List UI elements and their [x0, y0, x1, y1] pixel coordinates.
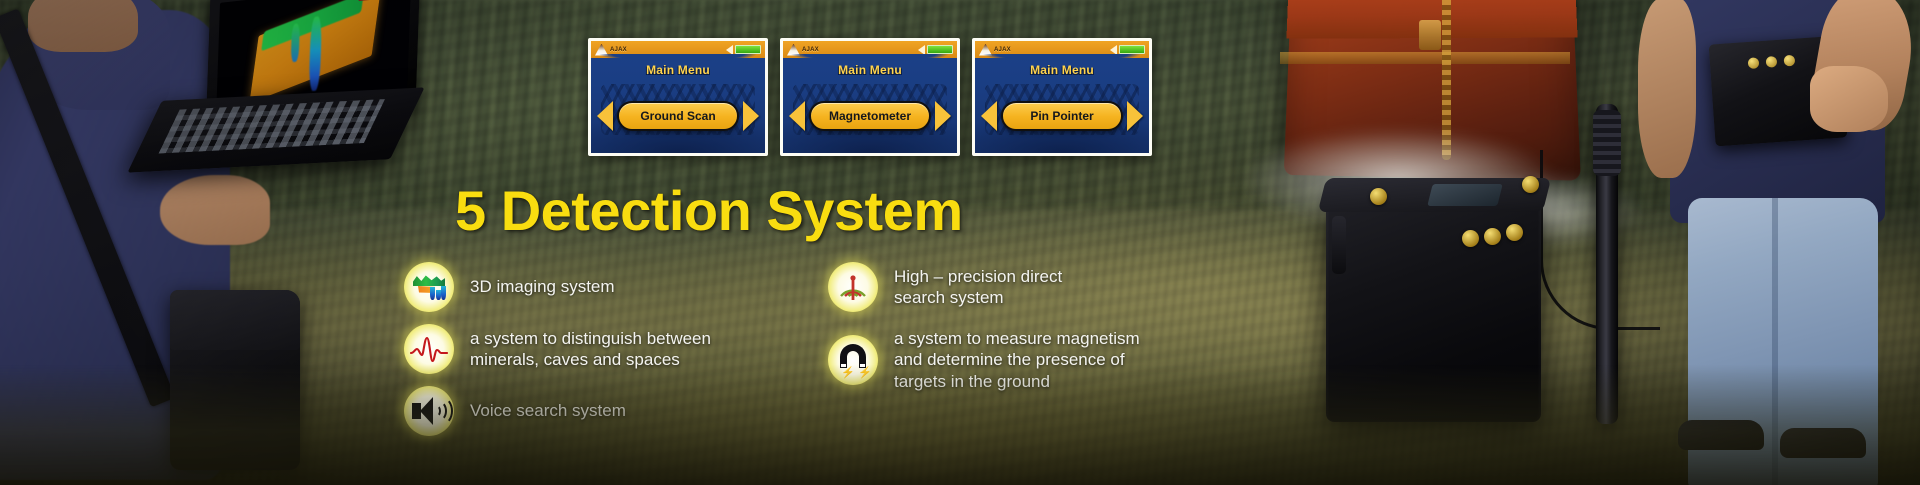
screen-mode-selector: Pin Pointer [975, 101, 1149, 131]
control-knob[interactable] [1766, 56, 1778, 68]
person-right-hand [1810, 66, 1888, 132]
screen-title: Main Menu [975, 63, 1149, 77]
waveform-glyph [410, 334, 448, 364]
device-screen-group: AJAX Main Menu Ground Scan AJAX [588, 38, 1152, 156]
feature-list-left: 3D imaging system a system to distinguis… [404, 262, 794, 448]
feature-label: High – precision direct search system [894, 266, 1062, 309]
mode-button[interactable]: Ground Scan [617, 101, 739, 131]
feature-label: 3D imaging system [470, 276, 615, 297]
person-right-arm-left [1638, 0, 1696, 178]
brand-logo: AJAX [787, 44, 819, 56]
screen-title: Main Menu [591, 63, 765, 77]
battery-indicator [1110, 45, 1145, 55]
radar-signal-icon [828, 262, 878, 312]
screen-status-bar: AJAX [783, 41, 957, 58]
device-screen-ground-scan[interactable]: AJAX Main Menu Ground Scan [588, 38, 768, 156]
person-right [1650, 0, 1920, 485]
screen-mode-selector: Ground Scan [591, 101, 765, 131]
prev-mode-arrow-icon[interactable] [981, 101, 997, 131]
detector-unit [1326, 192, 1541, 422]
logo-text: AJAX [994, 47, 1011, 53]
list-item: a system to distinguish between minerals… [404, 324, 794, 374]
next-mode-arrow-icon[interactable] [1127, 101, 1143, 131]
list-item: Voice search system [404, 386, 794, 436]
volume-icon [918, 45, 925, 55]
logo-text: AJAX [802, 47, 819, 53]
logo-text: AJAX [610, 47, 627, 53]
waveform-icon [404, 324, 454, 374]
battery-indicator [918, 45, 953, 55]
feature-label: a system to distinguish between minerals… [470, 328, 711, 371]
promo-banner: AJAX Main Menu Ground Scan AJAX [0, 0, 1920, 485]
volume-icon [1110, 45, 1117, 55]
search-rod [1596, 104, 1618, 424]
detector-knob[interactable] [1506, 224, 1523, 241]
battery-indicator [726, 45, 761, 55]
chest-lock [1419, 20, 1441, 50]
list-item: ⚡⚡ a system to measure magnetism and det… [828, 328, 1248, 392]
detector-knob[interactable] [1522, 176, 1539, 193]
logo-mark-icon [979, 44, 992, 56]
detector-handle [1332, 216, 1346, 274]
person-right-shoe [1780, 428, 1866, 458]
brand-logo: AJAX [979, 44, 1011, 56]
device-screen-magnetometer[interactable]: AJAX Main Menu Magnetometer [780, 38, 960, 156]
screen-status-bar: AJAX [975, 41, 1149, 58]
next-mode-arrow-icon[interactable] [935, 101, 951, 131]
speaker-icon [404, 386, 454, 436]
battery-icon [927, 45, 953, 54]
page-title: 5 Detection System [455, 178, 963, 243]
list-item: 3D imaging system [404, 262, 794, 312]
detector-knob[interactable] [1484, 228, 1501, 245]
magnet-icon: ⚡⚡ [828, 335, 878, 385]
3d-terrain-icon [404, 262, 454, 312]
detector-knob[interactable] [1370, 188, 1387, 205]
feature-list-right: High – precision direct search system ⚡⚡… [828, 262, 1248, 404]
prev-mode-arrow-icon[interactable] [597, 101, 613, 131]
logo-mark-icon [787, 44, 800, 56]
next-mode-arrow-icon[interactable] [743, 101, 759, 131]
detector-display [1427, 184, 1502, 206]
person-right-shoe [1678, 420, 1764, 450]
device-screen-pin-pointer[interactable]: AJAX Main Menu Pin Pointer [972, 38, 1152, 156]
screen-mode-selector: Magnetometer [783, 101, 957, 131]
screen-title: Main Menu [783, 63, 957, 77]
volume-icon [726, 45, 733, 55]
prev-mode-arrow-icon[interactable] [789, 101, 805, 131]
logo-mark-icon [595, 44, 608, 56]
battery-icon [735, 45, 761, 54]
feature-label: Voice search system [470, 400, 626, 421]
radar-glyph [835, 270, 871, 304]
control-knob[interactable] [1748, 57, 1760, 69]
feature-label: a system to measure magnetism and determ… [894, 328, 1140, 392]
list-item: High – precision direct search system [828, 262, 1248, 312]
chest-band [1280, 52, 1570, 64]
screen-status-bar: AJAX [591, 41, 765, 58]
control-knob[interactable] [1784, 55, 1796, 67]
brand-logo: AJAX [595, 44, 627, 56]
detector-knob[interactable] [1462, 230, 1479, 247]
mode-button[interactable]: Magnetometer [809, 101, 931, 131]
battery-icon [1119, 45, 1145, 54]
mode-button[interactable]: Pin Pointer [1001, 101, 1123, 131]
